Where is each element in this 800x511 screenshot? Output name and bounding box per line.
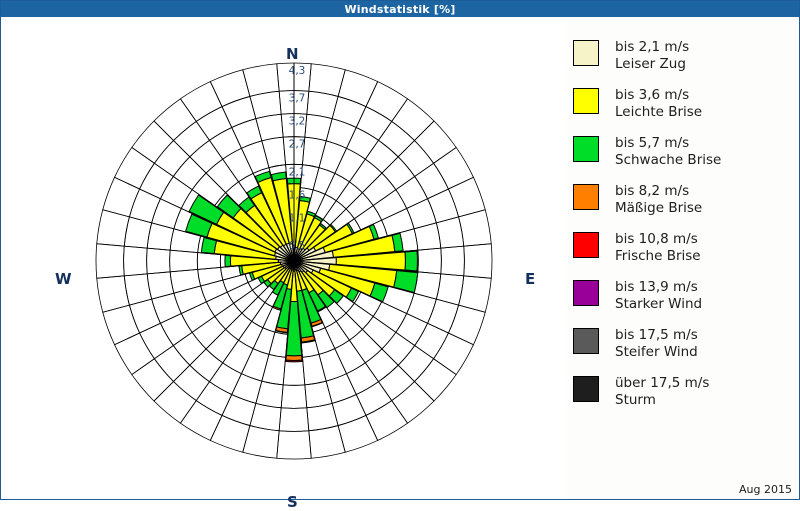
grid-cell: [209, 363, 241, 395]
grid-cell: [173, 332, 206, 365]
grid-cell: [174, 286, 206, 314]
grid-cell: [414, 121, 456, 163]
legend-name-label: Mäßige Brise: [615, 200, 702, 217]
grid-cell: [279, 408, 309, 432]
compass-label-south: S: [287, 493, 298, 511]
legend-speed-label: über 17,5 m/s: [615, 375, 709, 391]
grid-cell: [396, 314, 428, 346]
grid-cell: [379, 121, 415, 156]
grid-cell: [428, 299, 459, 333]
grid-cell: [434, 333, 474, 375]
grid-cell: [281, 385, 307, 408]
grid-cell: [349, 159, 381, 192]
grid-cell: [349, 329, 381, 362]
legend-name-label: Schwache Brise: [615, 152, 721, 169]
grid-cell: [346, 303, 373, 329]
windrose-plot-area: 0,51,11,62,12,73,23,74,3 N S W E: [1, 17, 567, 499]
grid-cell: [356, 107, 391, 141]
grid-cell: [434, 147, 474, 189]
grid-cell: [379, 365, 415, 400]
grid-cell: [326, 119, 356, 149]
grid-cell: [154, 381, 196, 423]
legend-name-label: Steifer Wind: [615, 344, 698, 361]
legend-color-swatch: [573, 376, 599, 402]
legend-color-swatch: [573, 184, 599, 210]
grid-cell: [366, 401, 408, 441]
grid-cell: [336, 182, 362, 209]
grid-cell: [132, 359, 174, 401]
radial-tick-label: 3,7: [289, 93, 306, 105]
grid-cell: [97, 276, 130, 312]
compass-label-east: E: [525, 270, 535, 288]
grid-cell: [196, 107, 231, 141]
legend-item: bis 3,6 m/sLeichte Brise: [573, 87, 797, 129]
legend-speed-label: bis 5,7 m/s: [615, 135, 689, 151]
grid-cell: [198, 267, 223, 286]
grid-cell: [302, 137, 326, 167]
radial-tick-label: 2,1: [289, 166, 306, 178]
grid-cell: [262, 354, 286, 384]
grid-cell: [414, 223, 441, 250]
grid-cell: [196, 382, 231, 416]
grid-cell: [226, 313, 252, 340]
grid-cell: [347, 127, 379, 159]
grid-cell: [210, 415, 250, 452]
legend-speed-label: bis 10,8 m/s: [615, 231, 698, 247]
windrose-petal-segment: [405, 251, 417, 271]
windrose-petal-segment: [286, 356, 302, 361]
grid-cell: [115, 147, 155, 189]
grid-cell: [222, 395, 256, 426]
grid-cell: [414, 272, 441, 299]
legend-label: bis 13,9 m/sStarker Wind: [615, 279, 702, 313]
radial-tick-label: 1,6: [289, 189, 306, 201]
radial-tick-label: 2,7: [289, 139, 306, 151]
grid-cell: [415, 323, 449, 358]
windrose-chart: 0,51,11,62,12,73,23,74,3: [1, 17, 567, 499]
windrose-petal-segment: [394, 271, 418, 293]
compass-label-north: N: [286, 45, 299, 63]
grid-cell: [206, 159, 238, 192]
grid-cell: [382, 208, 414, 236]
legend-item: bis 5,7 m/sSchwache Brise: [573, 135, 797, 177]
grid-cell: [174, 365, 210, 400]
legend-speed-label: bis 13,9 m/s: [615, 279, 698, 295]
legend: bis 2,1 m/sLeiser Zugbis 3,6 m/sLeichte …: [573, 39, 797, 423]
grid-cell: [147, 248, 170, 274]
grid-cell: [319, 349, 347, 381]
grid-cell: [232, 374, 262, 404]
legend-item: über 17,5 m/sSturm: [573, 375, 797, 417]
grid-cell: [174, 121, 210, 156]
grid-cell: [160, 314, 192, 346]
grid-cell: [256, 381, 283, 408]
legend-name-label: Starker Wind: [615, 296, 702, 313]
legend-color-swatch: [573, 40, 599, 66]
legend-item: bis 13,9 m/sStarker Wind: [573, 279, 797, 321]
grid-cell: [332, 96, 366, 127]
legend-color-swatch: [573, 232, 599, 258]
legend-label: bis 17,5 m/sSteifer Wind: [615, 327, 698, 361]
grid-cell: [256, 114, 283, 141]
grid-cell: [373, 190, 406, 220]
legend-item: bis 2,1 m/sLeiser Zug: [573, 39, 797, 81]
grid-cell: [305, 114, 332, 141]
grid-cell: [154, 346, 189, 382]
grid-cell: [309, 426, 345, 459]
grid-cell: [356, 382, 391, 416]
grid-cell: [129, 189, 160, 223]
grid-cell: [180, 401, 222, 441]
window-title: Windstatistik [%]: [344, 3, 455, 16]
grid-cell: [448, 305, 485, 345]
grid-cell: [407, 293, 437, 323]
legend-label: über 17,5 m/sSturm: [615, 375, 709, 409]
legend-label: bis 8,2 m/sMäßige Brise: [615, 183, 702, 217]
window-titlebar: Windstatistik [%]: [1, 1, 799, 17]
grid-cell: [415, 163, 449, 198]
grid-cell: [206, 329, 238, 362]
grid-cell: [124, 246, 148, 276]
legend-speed-label: bis 2,1 m/s: [615, 39, 689, 55]
legend-label: bis 2,1 m/sLeiser Zug: [615, 39, 689, 73]
grid-cell: [152, 199, 182, 229]
grid-cell: [180, 82, 222, 122]
grid-cell: [382, 157, 415, 190]
legend-label: bis 3,6 m/sLeichte Brise: [615, 87, 702, 121]
grid-cell: [362, 173, 395, 205]
grid-cell: [365, 349, 398, 382]
grid-cell: [227, 282, 252, 303]
radial-tick-label: 0,5: [289, 240, 306, 252]
grid-cell: [396, 176, 428, 208]
grid-cell: [459, 210, 492, 246]
grid-cell: [398, 346, 433, 382]
grid-cell: [147, 272, 174, 299]
grid-cell: [190, 140, 223, 173]
grid-cell: [173, 157, 206, 190]
date-stamp: Aug 2015: [739, 483, 792, 496]
grid-cell: [223, 148, 253, 181]
legend-color-swatch: [573, 328, 599, 354]
grid-cell: [190, 349, 223, 382]
legend-name-label: Sturm: [615, 392, 709, 409]
grid-cell: [347, 363, 379, 395]
legend-color-swatch: [573, 88, 599, 114]
legend-name-label: Leiser Zug: [615, 56, 689, 73]
legend-label: bis 5,7 m/sSchwache Brise: [615, 135, 721, 169]
grid-cell: [192, 316, 225, 348]
grid-cell: [418, 248, 441, 274]
grid-cell: [243, 64, 279, 97]
radial-tick-label: 1,1: [289, 212, 306, 224]
radial-tick-label: 4,3: [289, 65, 306, 77]
legend-item: bis 8,2 m/sMäßige Brise: [573, 183, 797, 225]
grid-cell: [392, 381, 434, 423]
grid-cell: [154, 141, 189, 177]
grid-cell: [382, 332, 415, 365]
legend-label: bis 10,8 m/sFrische Brise: [615, 231, 701, 265]
grid-cell: [365, 140, 398, 173]
grid-cell: [338, 70, 378, 107]
compass-label-west: W: [55, 270, 72, 288]
legend-color-swatch: [573, 136, 599, 162]
grid-cell: [414, 359, 456, 401]
grid-cell: [366, 82, 408, 122]
grid-cell: [335, 340, 365, 373]
grid-cell: [398, 141, 433, 177]
legend-speed-label: bis 8,2 m/s: [615, 183, 689, 199]
grid-cell: [305, 381, 332, 408]
grid-cell: [181, 302, 214, 332]
grid-cell: [170, 250, 198, 272]
legend-name-label: Leichte Brise: [615, 104, 702, 121]
grid-cell: [147, 223, 174, 250]
grid-cell: [234, 290, 259, 313]
legend-color-swatch: [573, 280, 599, 306]
grid-cell: [441, 246, 465, 276]
grid-cell: [160, 176, 192, 208]
grid-cell: [132, 121, 174, 163]
grid-cell: [262, 137, 286, 167]
grid-cell: [154, 99, 196, 141]
legend-item: bis 17,5 m/sSteifer Wind: [573, 327, 797, 369]
grid-cell: [140, 323, 174, 358]
windrose-petal-segment: [225, 255, 231, 266]
windrose-petal-segment: [286, 360, 302, 362]
grid-cell: [302, 354, 326, 384]
grid-cell: [197, 253, 220, 270]
grid-cell: [464, 244, 492, 279]
legend-name-label: Frische Brise: [615, 248, 701, 265]
grid-cell: [140, 163, 174, 198]
grid-cell: [209, 127, 241, 159]
radial-tick-label: 3,2: [289, 116, 306, 128]
grid-cell: [362, 316, 395, 348]
windrose-window: Windstatistik [%] 0,51,11,62,12,73,23,74…: [0, 0, 800, 500]
legend-speed-label: bis 3,6 m/s: [615, 87, 689, 103]
grid-cell: [277, 431, 312, 459]
grid-cell: [115, 333, 155, 375]
grid-cell: [241, 141, 269, 173]
legend-speed-label: bis 17,5 m/s: [615, 327, 698, 343]
grid-cell: [96, 244, 124, 279]
grid-cell: [103, 177, 140, 217]
grid-cell: [392, 99, 434, 141]
grid-cell: [170, 269, 200, 293]
legend-item: bis 10,8 m/sFrische Brise: [573, 231, 797, 273]
